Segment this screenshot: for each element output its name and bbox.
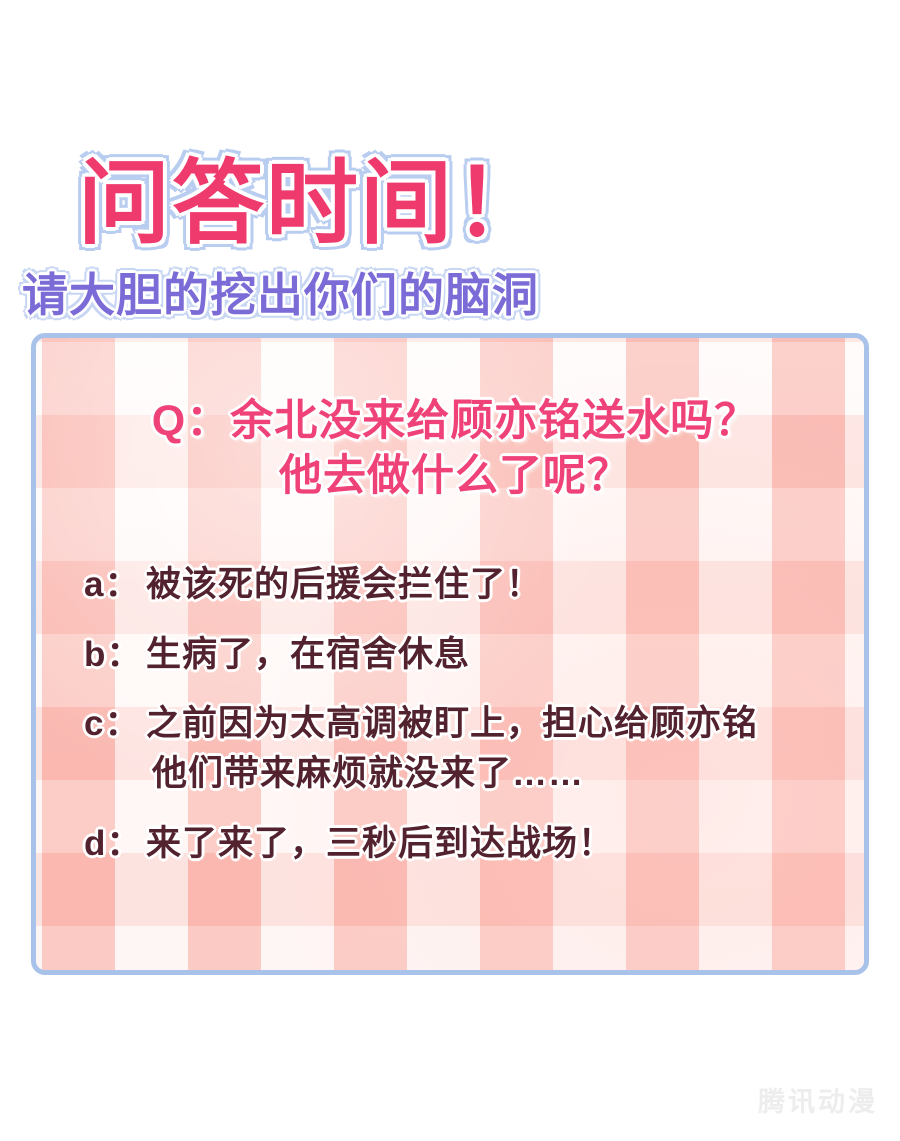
page-title: 问答时间！ [78,158,548,250]
answer-c-line-2: 他们带来麻烦就没来了…… [146,749,844,799]
answer-option-a[interactable]: a： 被该死的后援会拦住了！ [84,560,844,610]
answer-text-c: 之前因为太高调被盯上，担心给顾亦铭 他们带来麻烦就没来了…… [146,699,844,798]
answer-d-line-1: 来了来了，三秒后到达战场！ [146,824,614,863]
panel-content: Q：余北没来给顾亦铭送水吗？ 他去做什么了呢？ a： 被该死的后援会拦住了！ b… [36,338,864,970]
header-block: 问答时间！ 请大胆的挖出你们的脑洞 [0,0,900,332]
answer-a-line-1: 被该死的后援会拦住了！ [146,565,542,604]
answer-text-d: 来了来了，三秒后到达战场！ [146,819,844,869]
quiz-panel: Q：余北没来给顾亦铭送水吗？ 他去做什么了呢？ a： 被该死的后援会拦住了！ b… [31,333,869,975]
comic-quiz-page: 问答时间！ 请大胆的挖出你们的脑洞 Q：余北没来给顾亦铭送水吗？ 他去做什么了呢… [0,0,900,1141]
answer-b-line-1: 生病了，在宿舍休息 [146,635,470,674]
question-line-1: Q：余北没来给顾亦铭送水吗？ [36,394,869,449]
answer-text-a: 被该死的后援会拦住了！ [146,560,844,610]
question-line-2: 他去做什么了呢？ [36,449,869,504]
answer-c-line-1: 之前因为太高调被盯上，担心给顾亦铭 [146,704,758,743]
answer-text-b: 生病了，在宿舍休息 [146,630,844,680]
answer-option-c[interactable]: c： 之前因为太高调被盯上，担心给顾亦铭 他们带来麻烦就没来了…… [84,699,844,798]
question-text: Q：余北没来给顾亦铭送水吗？ 他去做什么了呢？ [36,394,869,504]
answer-options-list: a： 被该死的后援会拦住了！ b： 生病了，在宿舍休息 c： 之前因为太高调被盯… [84,560,844,888]
answer-option-b[interactable]: b： 生病了，在宿舍休息 [84,630,844,680]
page-subtitle: 请大胆的挖出你们的脑洞 [22,272,539,318]
answer-key-c: c： [84,699,146,749]
answer-key-a: a： [84,560,146,610]
answer-key-b: b： [84,630,146,680]
answer-option-d[interactable]: d： 来了来了，三秒后到达战场！ [84,819,844,869]
watermark-tencent-comics: 腾讯动漫 [758,1080,878,1119]
answer-key-d: d： [84,819,146,869]
